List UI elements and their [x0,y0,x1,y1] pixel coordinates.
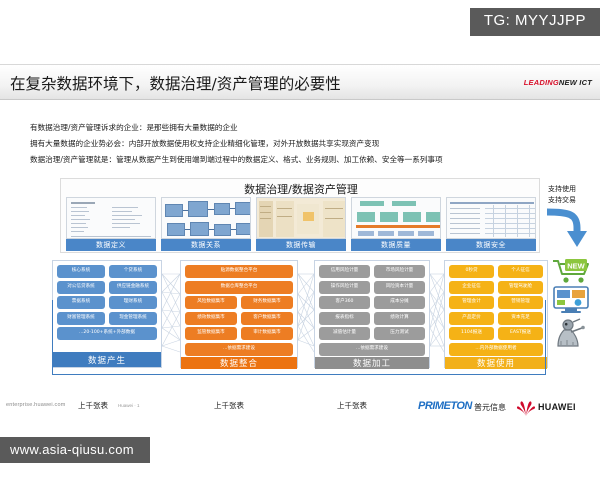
primeton-logo-cn: 普元信息 [474,402,506,413]
pipeline-cell[interactable]: EAST报送 [498,327,543,340]
pipeline-row: 操作风险计量 风险资本计量 [319,281,425,294]
curved-down-arrow-icon [545,206,593,248]
pipeline-cell[interactable]: 客户数据集市 [241,312,293,325]
governance-card-label: 数据定义 [66,239,156,251]
bullet-line-3: 数据治理/资产管理就是：管理从数据产生到使用端到端过程中的数据定义、格式、业务规… [30,155,590,165]
pipeline-stage-label: 数据产生 [53,352,161,367]
pipeline-cell[interactable]: 财富管理系统 [57,312,105,325]
pipeline-column-body: 信用风险计量 市场风险计量 操作风险计量 风险资本计量 客户360 成本分摊 报… [315,261,429,357]
governance-card-list: 数据定义 [66,197,536,251]
pipeline-cell-platform[interactable]: 数据仓库整合平台 [185,281,293,294]
data-governance-diagram: 数据治理/数据资产管理 [0,170,600,395]
pipeline-row: 0秒贷 个人征信 [449,265,543,278]
pipeline-cell[interactable]: 操作风险计量 [319,281,370,294]
governance-card-label: 数据关系 [161,239,251,251]
pipeline-cell[interactable]: 票据系统 [57,296,105,309]
pipeline-cell[interactable]: 管理驾驶舱 [498,281,543,294]
lineage-map-thumbnail [256,197,346,239]
pipeline-cell[interactable]: 个人征信 [498,265,543,278]
document-table-thumbnail [66,197,156,239]
governance-card-label: 数据安全 [446,239,536,251]
feedback-loop-rail-bottom [52,374,546,375]
governance-card-data-security[interactable]: 数据安全 [446,197,536,251]
governance-card-data-quality[interactable]: 数据质量 [351,197,441,251]
pipeline-row: 信用风险计量 市场风险计量 [319,265,425,278]
footer-caption-2: 上千张表 [214,400,244,411]
footer-caption-3: 上千张表 [337,400,367,411]
pipeline-row: 产品定价 资本充足 [449,312,543,325]
primeton-logo: PRIMETON [418,400,472,412]
pipeline-cell[interactable]: 企业征信 [449,281,494,294]
pipeline-column-produce[interactable]: 核心系统 个贷系统 对公信贷系统 供应链金融系统 票据系统 理财系统 财富管理系… [52,260,162,368]
leading-new-ict-logo: LEADINGNEW ICT [524,78,592,87]
tg-banner: TG: MYYJJPP [470,8,600,36]
pipeline-row: 核心系统 个贷系统 [57,265,157,278]
er-diagram-thumbnail [161,197,251,239]
pipeline-cell[interactable]: 0秒贷 [449,265,494,278]
governance-title: 数据治理/数据资产管理 [61,181,541,197]
pipeline-stage-label: 数据加工 [315,357,429,369]
pipeline-cell[interactable]: 管理会计 [449,296,494,309]
pipeline-column-body: 0秒贷 个人征信 企业征信 管理驾驶舱 管理会计 营销管理 产品定价 资本充足 … [445,261,547,357]
pipeline-cell[interactable]: 风险资本计量 [374,281,425,294]
bullet-line-2: 拥有大量数据的企业势必会：内部开放数据使用权支持企业精细化管理，对外开放数据共享… [30,139,590,149]
pipeline-column-consume[interactable]: 0秒贷 个人征信 企业征信 管理驾驶舱 管理会计 营销管理 产品定价 资本充足 … [444,260,548,368]
governance-panel: 数据治理/数据资产管理 [60,178,540,253]
pipeline-row: 监管数据集市 审计数据集市 [185,327,293,340]
pipeline-column-body: 核心系统 个贷系统 对公信贷系统 供应链金融系统 票据系统 理财系统 财富管理系… [53,261,161,352]
pipeline-cell[interactable]: 成本分摊 [374,296,425,309]
pipeline-row: 绩效数据集市 客户数据集市 [185,312,293,325]
cart-new-badge: NEW [567,262,585,271]
support-note: 支持使用 支持交易 [548,184,576,205]
pipeline-cell[interactable]: 1104报送 [449,327,494,340]
site-watermark: www.asia-qiusu.com [0,437,150,463]
pipeline-cell[interactable]: 资本充足 [498,312,543,325]
bullet-line-1: 有数据治理/资产管理诉求的企业：是那些拥有大量数据的企业 [30,123,590,133]
pipeline-row: ...依据需求建设 [319,343,425,356]
shopping-cart-icon: NEW [551,258,593,284]
pipeline-cell-more[interactable]: ...20-100+系统+外部数据 [57,327,157,340]
pipeline-cell-more[interactable]: ...内外部数据使用者 [449,343,543,356]
governance-card-data-definition[interactable]: 数据定义 [66,197,156,251]
security-matrix-thumbnail [446,197,536,239]
huawei-wordmark: HUAWEI [538,402,576,412]
pipeline-stage-label: 数据使用 [445,357,547,369]
support-line-2: 支持交易 [548,196,576,204]
governance-card-data-transfer[interactable]: 数据传输 [256,197,346,251]
pipeline-cell[interactable]: 压力测试 [374,327,425,340]
footer-caption-1: 上千张表 [78,400,108,411]
quality-dashboard-thumbnail [351,197,441,239]
pipeline-cell[interactable]: 客户360 [319,296,370,309]
governance-card-data-relationship[interactable]: 数据关系 [161,197,251,251]
pipeline-row: 对公信贷系统 供应链金融系统 [57,281,157,294]
governance-card-label: 数据传输 [256,239,346,251]
pipeline-row: 财富管理系统 现金管理系统 [57,312,157,325]
pipeline-column-integrate[interactable]: 贴源数据整合平台 数据仓库整合平台 风险数据集市 财务数据集市 绩效数据集市 客… [180,260,298,368]
pipeline-row: ...内外部数据使用者 [449,343,543,356]
pipeline-cell[interactable]: 供应链金融系统 [109,281,157,294]
pipeline-cell[interactable]: 绩效数据集市 [185,312,237,325]
slide-footer: enterprise.huawei.com 上千张表 Huawei · 1 上千… [0,398,600,424]
pipeline-cell[interactable]: 信用风险计量 [319,265,370,278]
pipeline-row: ...依据需求建设 [185,343,293,356]
pipeline-cell[interactable]: 财务数据集市 [241,296,293,309]
pipeline-cell[interactable]: 审计数据集市 [241,327,293,340]
pipeline-row: 报表指标 绩效计算 [319,312,425,325]
pipeline-row: 贴源数据整合平台 [185,265,293,278]
pipeline-cell[interactable]: 个贷系统 [109,265,157,278]
pipeline-cell[interactable]: 营销管理 [498,296,543,309]
pipeline-columns: 核心系统 个贷系统 对公信贷系统 供应链金融系统 票据系统 理财系统 财富管理系… [52,260,548,368]
pipeline-cell[interactable]: 减值估计量 [319,327,370,340]
pipeline-cell[interactable]: 核心系统 [57,265,105,278]
pipeline-cell-more[interactable]: ...依据需求建设 [319,343,425,356]
pipeline-cell[interactable]: 理财系统 [109,296,157,309]
pipeline-row: 减值估计量 压力测试 [319,327,425,340]
pipeline-cell[interactable]: 产品定价 [449,312,494,325]
pipeline-cell[interactable]: 市场风险计量 [374,265,425,278]
pipeline-cell[interactable]: 绩效计算 [374,312,425,325]
feedback-loop-rail [52,300,53,375]
pipeline-cell-platform[interactable]: 贴源数据整合平台 [185,265,293,278]
logo-leading-text: LEADING [524,78,559,87]
pipeline-cell[interactable]: 监管数据集市 [185,327,237,340]
pipeline-cell[interactable]: 报表指标 [319,312,370,325]
pipeline-row: 客户360 成本分摊 [319,296,425,309]
robot-icon [552,318,590,348]
feedback-loop-rail-right [545,300,546,375]
pipeline-row: 1104报送 EAST报送 [449,327,543,340]
logo-newict-text: NEW ICT [559,78,592,87]
dashboard-monitor-icon [552,286,590,314]
pipeline-row: 管理会计 营销管理 [449,296,543,309]
huawei-flower-logo [516,399,536,417]
page-title: 在复杂数据环境下，数据治理/资产管理的必要性 [10,72,341,94]
support-line-1: 支持使用 [548,185,576,193]
pipeline-row: 票据系统 理财系统 [57,296,157,309]
pipeline-column-body: 贴源数据整合平台 数据仓库整合平台 风险数据集市 财务数据集市 绩效数据集市 客… [181,261,297,357]
pipeline-row: 风险数据集市 财务数据集市 [185,296,293,309]
pipeline-stage-label: 数据整合 [181,357,297,369]
footer-subtext: Huawei · 1 [118,403,140,408]
bullet-paragraphs: 有数据治理/资产管理诉求的企业：是那些拥有大量数据的企业 拥有大量数据的企业势必… [30,123,590,170]
pipeline-row: 数据仓库整合平台 [185,281,293,294]
pipeline-cell[interactable]: 对公信贷系统 [57,281,105,294]
pipeline-cell[interactable]: 风险数据集市 [185,296,237,309]
pipeline-column-process[interactable]: 信用风险计量 市场风险计量 操作风险计量 风险资本计量 客户360 成本分摊 报… [314,260,430,368]
pipeline-cell-more[interactable]: ...依据需求建设 [185,343,293,356]
pipeline-row: 企业征信 管理驾驶舱 [449,281,543,294]
pipeline-row: ...20-100+系统+外部数据 [57,327,157,340]
enterprise-url: enterprise.huawei.com [6,402,66,408]
governance-card-label: 数据质量 [351,239,441,251]
pipeline-cell[interactable]: 现金管理系统 [109,312,157,325]
slide-title-bar: 在复杂数据环境下，数据治理/资产管理的必要性 LEADINGNEW ICT [0,64,600,100]
